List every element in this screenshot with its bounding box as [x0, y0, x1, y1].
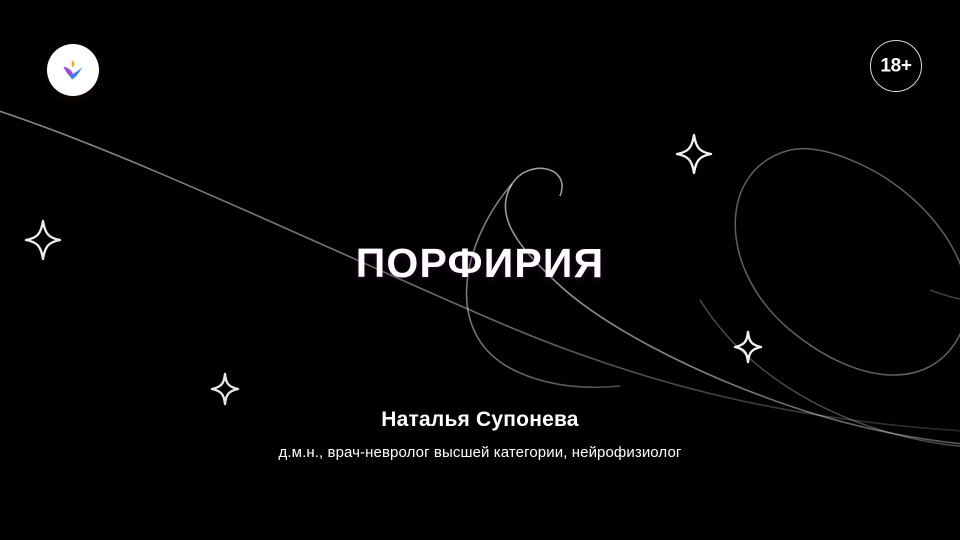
title-slide: 18+ ПОРФИРИЯ Наталья Супонева д.м.н., вр… — [0, 0, 960, 540]
brand-logo[interactable] — [47, 44, 99, 96]
age-rating-label: 18+ — [880, 56, 911, 75]
curve-loop-center-icon — [505, 168, 960, 446]
sparkle-right-lower-icon — [735, 332, 761, 362]
slide-title: ПОРФИРИЯ — [0, 243, 960, 284]
age-rating-badge: 18+ — [870, 40, 922, 92]
curve-arc-right-outer-icon — [930, 290, 960, 302]
sprout-logo-icon — [58, 55, 88, 85]
speaker-role: д.м.н., врач-невролог высшей категории, … — [0, 444, 960, 462]
sparkle-left-lower-icon — [212, 374, 238, 404]
sparkle-top-right-icon — [677, 135, 711, 173]
speaker-name: Наталья Супонева — [0, 409, 960, 430]
